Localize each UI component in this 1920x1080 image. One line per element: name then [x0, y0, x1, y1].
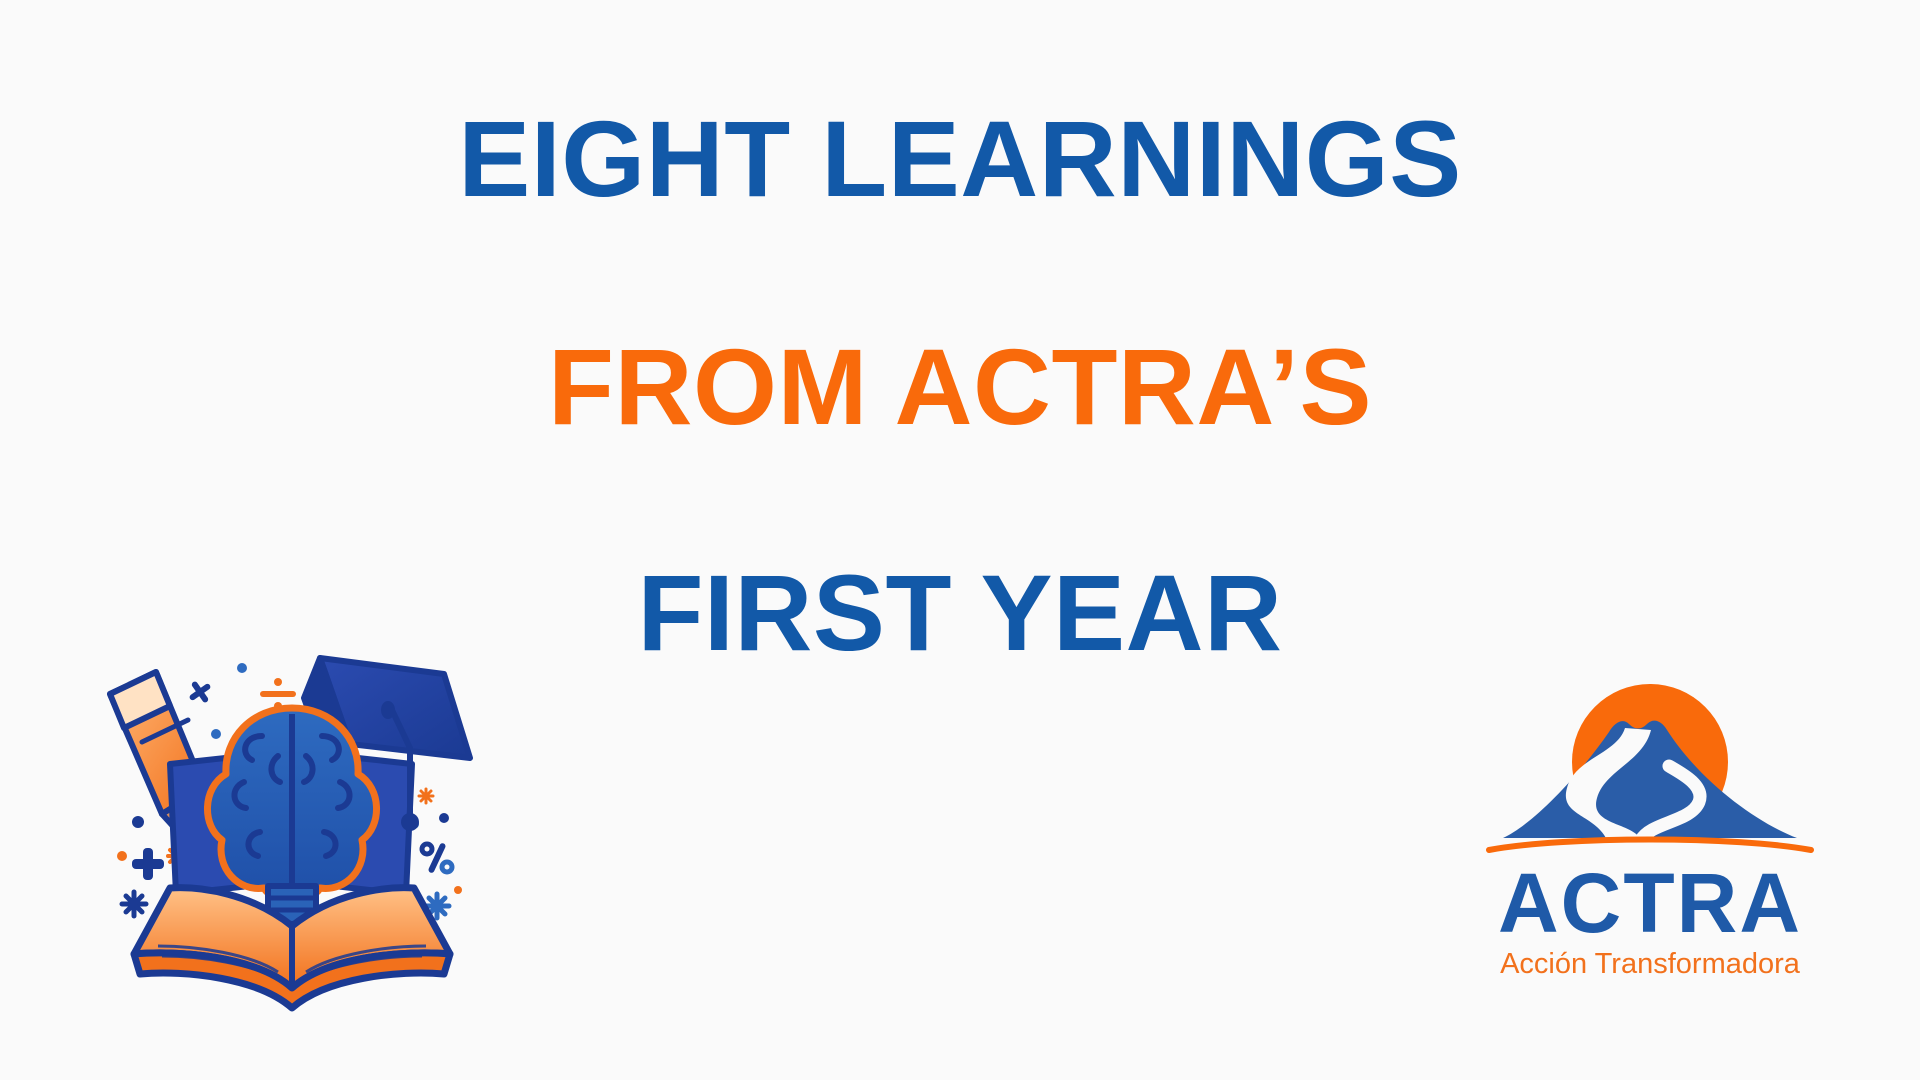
logo-tagline: Acción Transformadora [1500, 948, 1801, 980]
logo-wordmark: ACTRA [1498, 856, 1802, 950]
mountain-icon [1503, 721, 1797, 838]
presentation-slide: EIGHT LEARNINGS FROM ACTRA’S FIRST YEAR [0, 0, 1920, 1080]
actra-logo: ACTRA Acción Transformadora [1455, 670, 1845, 1000]
brain-lightbulb-icon [207, 708, 376, 924]
education-illustration [92, 636, 492, 1028]
title-line-3: FIRST YEAR [637, 558, 1282, 668]
title-line-2: FROM ACTRA’S [548, 332, 1372, 442]
base-arc [1489, 840, 1811, 851]
title-line-1: EIGHT LEARNINGS [458, 104, 1462, 214]
